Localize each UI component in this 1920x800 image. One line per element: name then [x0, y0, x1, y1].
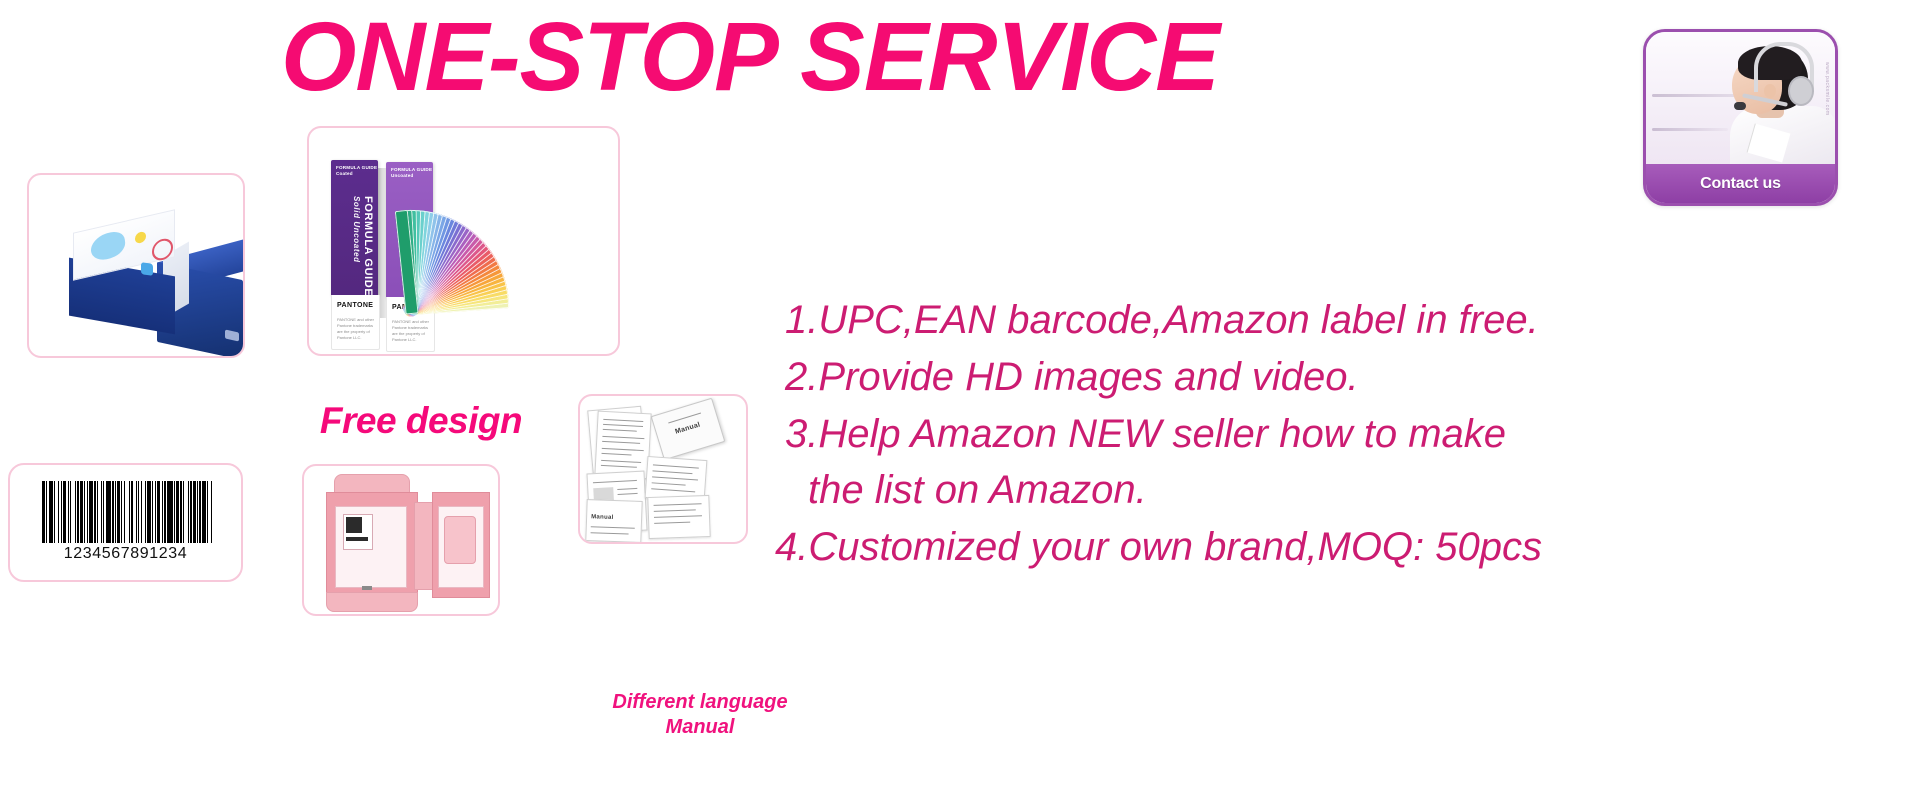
contact-us-label: Contact us	[1700, 175, 1781, 193]
manual-sheet-2	[594, 411, 651, 480]
feature-item-4: 4.Customized your own brand,MOQ: 50pcs	[775, 519, 1910, 576]
customer-service-photo: www.packsmile.com	[1646, 32, 1835, 164]
poster-canvas: ONE-STOP SERVICE FORMULA GUIDE Coated FO…	[0, 0, 1920, 800]
pantone-uncoated-fineprint: PANTONE and other Pantone trademarks are…	[392, 319, 430, 343]
dieline-qr-icon	[346, 517, 362, 533]
pantone-uncoated-header: FORMULA GUIDE Uncoated	[391, 167, 433, 179]
product-box-mockup-card	[27, 173, 245, 358]
dieline-mark	[362, 586, 372, 590]
barcode-number: 1234567891234	[10, 545, 241, 563]
contact-us-widget[interactable]: www.packsmile.com Contact us	[1643, 29, 1838, 206]
headset-mic-icon	[1734, 102, 1746, 110]
dieline-illustration	[304, 466, 498, 614]
photo-watermark: www.packsmile.com	[1824, 62, 1830, 116]
headset-earcup-icon	[1788, 76, 1814, 106]
barcode-bars	[42, 481, 214, 543]
manual-caption-line-2: Manual	[570, 715, 830, 740]
feature-item-2: 2.Provide HD images and video.	[785, 349, 1910, 406]
manual-booklet-title: Manual	[674, 421, 701, 435]
box-illustration	[29, 175, 243, 356]
feature-list: 1.UPC,EAN barcode,Amazon label in free. …	[770, 292, 1910, 576]
pantone-coated-header: FORMULA GUIDE Coated	[336, 165, 378, 177]
manual-samples-card: Manual	[578, 394, 748, 544]
dieline-bottom-flap	[326, 592, 418, 612]
manual-caption-line-1: Different language	[570, 690, 830, 715]
dieline-product-graphic	[444, 516, 476, 564]
feature-item-3-continued: the list on Amazon.	[808, 462, 1910, 519]
box-artwork-square-blue-icon	[141, 262, 153, 276]
pantone-coated-title-block: FORMULA GUIDE Solid Coated	[307, 186, 331, 322]
pantone-uncoated-subtitle: Solid Uncoated	[351, 196, 361, 324]
barcode-bar	[212, 481, 214, 543]
pantone-uncoated-title-block: FORMULA GUIDE Solid Uncoated	[339, 188, 386, 324]
manual-booklet-cover: Manual	[651, 398, 726, 461]
manual-sheet-6: Manual	[585, 499, 642, 543]
manual-sheet-5	[647, 495, 710, 539]
pantone-uncoated-title: FORMULA GUIDE	[361, 196, 375, 324]
feature-item-1: 1.UPC,EAN barcode,Amazon label in free.	[785, 292, 1910, 349]
dieline-barcode-strip	[346, 537, 368, 541]
page-title: ONE-STOP SERVICE	[0, 6, 1500, 108]
barcode-label-card: 1234567891234	[8, 463, 243, 582]
contact-us-button[interactable]: Contact us	[1646, 164, 1835, 203]
free-design-label: Free design	[306, 400, 536, 442]
pantone-guide-card: FORMULA GUIDE Coated FORMULA GUIDE Solid…	[307, 126, 620, 356]
feature-item-3: 3.Help Amazon NEW seller how to make	[785, 406, 1910, 463]
packaging-dieline-card	[302, 464, 500, 616]
manual-sheet-6-title: Manual	[591, 514, 614, 521]
manual-caption: Different language Manual	[570, 690, 830, 740]
pantone-coated-title: FORMULA GUIDE	[307, 194, 319, 322]
